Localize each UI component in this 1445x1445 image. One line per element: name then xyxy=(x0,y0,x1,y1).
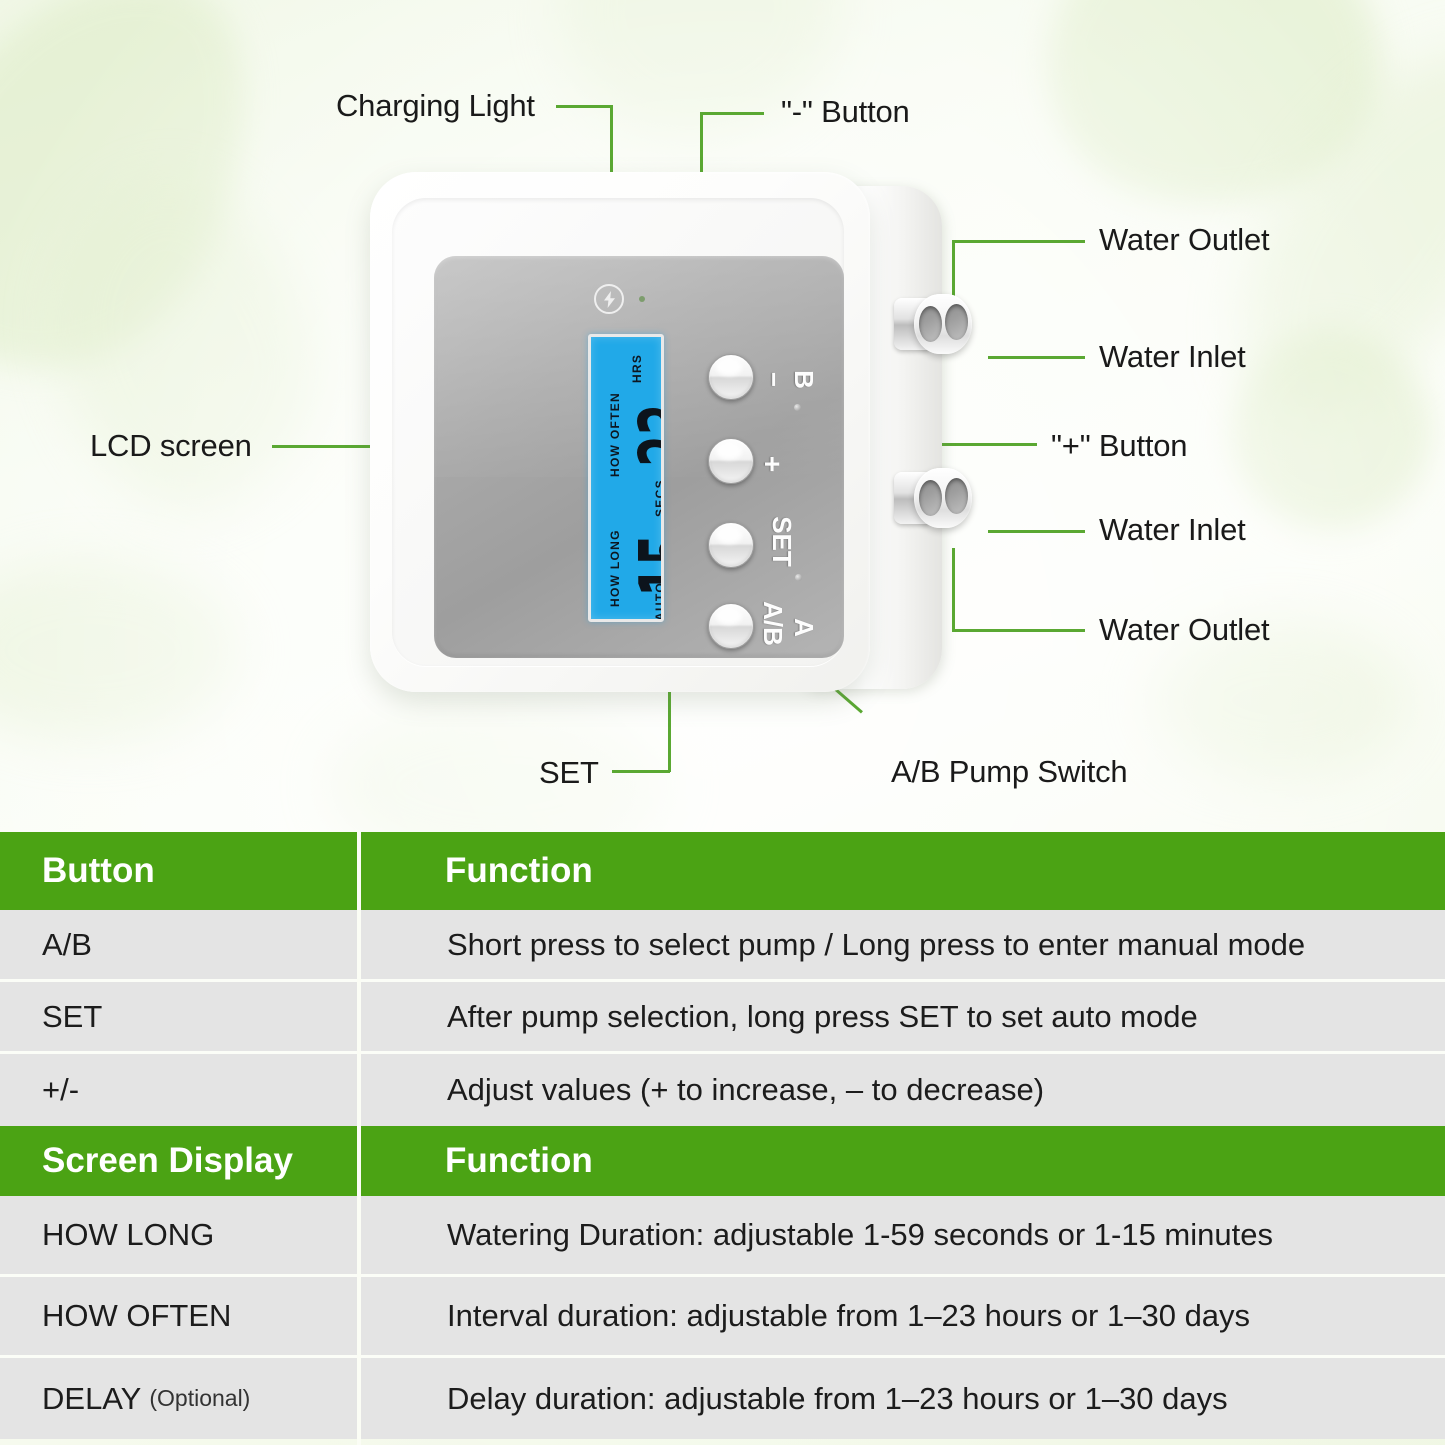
row-function-ab: Short press to select pump / Long press … xyxy=(357,910,1445,979)
minus-label: − xyxy=(758,372,789,387)
table-column-divider xyxy=(357,832,361,1445)
function-table: Button Function A/B Short press to selec… xyxy=(0,832,1445,1445)
water-inlet-hole xyxy=(945,304,968,340)
callout-water-inlet-top: Water Inlet xyxy=(1099,339,1246,375)
leader-line-minus-button xyxy=(700,112,764,115)
pump-b-led xyxy=(794,404,801,411)
row-label-delay-note: (Optional) xyxy=(149,1385,250,1412)
callout-minus-button: "-" Button xyxy=(781,94,910,130)
callout-set: SET xyxy=(539,755,599,791)
plus-button[interactable] xyxy=(708,438,754,484)
callout-water-outlet-top: Water Outlet xyxy=(1099,222,1269,258)
row-function-plus-minus: Adjust values (+ to increase, – to decre… xyxy=(357,1054,1445,1126)
row-label-set: SET xyxy=(0,982,357,1051)
row-function-set: After pump selection, long press SET to … xyxy=(357,982,1445,1051)
table-header-screen-display: Screen Display Function xyxy=(0,1126,1445,1196)
callout-charging-light: Charging Light xyxy=(336,88,535,124)
lcd-how-often-label: HOW OFTEN xyxy=(608,392,622,477)
ab-label: A/B xyxy=(757,601,788,646)
lcd-screen: HOW OFTEN HRS 23 SECS HOW LONG 15 AUTO xyxy=(588,334,664,622)
callout-water-outlet-bottom: Water Outlet xyxy=(1099,612,1269,648)
callout-plus-button: "+" Button xyxy=(1051,428,1187,464)
leader-line-water-outlet-bottom xyxy=(952,629,1085,632)
water-port-top xyxy=(894,294,970,354)
row-label-delay: DELAY (Optional) xyxy=(0,1358,357,1439)
pump-a-led xyxy=(795,574,802,581)
table-row: +/- Adjust values (+ to increase, – to d… xyxy=(0,1054,1445,1126)
water-inlet-hole xyxy=(945,478,968,514)
water-outlet-hole xyxy=(919,480,942,516)
device-faceplate: HOW OFTEN HRS 23 SECS HOW LONG 15 AUTO xyxy=(434,256,844,658)
lcd-how-long-label: HOW LONG xyxy=(608,529,622,607)
plus-label: + xyxy=(756,456,788,472)
row-function-how-long: Watering Duration: adjustable 1-59 secon… xyxy=(357,1196,1445,1274)
minus-button[interactable] xyxy=(708,354,754,400)
row-label-ab: A/B xyxy=(0,910,357,979)
charging-light-led xyxy=(639,296,645,302)
device-shell-inner: HOW OFTEN HRS 23 SECS HOW LONG 15 AUTO xyxy=(392,198,844,666)
table-row: SET After pump selection, long press SET… xyxy=(0,982,1445,1051)
header-cell-button: Button xyxy=(0,832,357,910)
irrigation-controller-device: HOW OFTEN HRS 23 SECS HOW LONG 15 AUTO xyxy=(370,172,900,702)
row-label-delay-text: DELAY xyxy=(42,1381,141,1417)
ab-pump-switch-button[interactable] xyxy=(708,603,754,649)
lightning-bolt-icon xyxy=(594,284,624,314)
port-barrel xyxy=(914,294,972,354)
water-port-bottom xyxy=(894,468,970,528)
leader-line-set xyxy=(612,770,670,773)
lcd-secs-label: SECS xyxy=(653,479,664,517)
lcd-hrs-label: HRS xyxy=(630,354,644,383)
table-row: A/B Short press to select pump / Long pr… xyxy=(0,910,1445,979)
lcd-auto-label: AUTO xyxy=(653,582,664,621)
port-barrel xyxy=(914,468,972,528)
header-cell-screen-display: Screen Display xyxy=(0,1126,357,1196)
leader-line-water-outlet-top xyxy=(952,240,1085,243)
row-function-how-often: Interval duration: adjustable from 1–23 … xyxy=(357,1277,1445,1355)
leader-line-charging-light xyxy=(556,105,612,108)
header-cell-function: Function xyxy=(357,832,1445,910)
table-row: HOW LONG Watering Duration: adjustable 1… xyxy=(0,1196,1445,1274)
lcd-how-often-value: 23 xyxy=(621,405,664,467)
callout-water-inlet-bottom: Water Inlet xyxy=(1099,512,1246,548)
pump-b-label: B xyxy=(788,370,819,389)
table-row: DELAY (Optional) Delay duration: adjusta… xyxy=(0,1358,1445,1439)
table-row: HOW OFTEN Interval duration: adjustable … xyxy=(0,1277,1445,1355)
callout-lcd-screen: LCD screen xyxy=(90,428,252,464)
row-label-how-often: HOW OFTEN xyxy=(0,1277,357,1355)
leader-line-water-inlet-bottom xyxy=(988,530,1085,533)
row-label-how-long: HOW LONG xyxy=(0,1196,357,1274)
product-diagram: Charging Light "-" Button Water Outlet W… xyxy=(0,0,1445,830)
pump-a-label: A xyxy=(788,618,819,637)
table-header-button: Button Function xyxy=(0,832,1445,910)
row-label-plus-minus: +/- xyxy=(0,1054,357,1126)
callout-ab-pump-switch: A/B Pump Switch xyxy=(891,754,1127,790)
leader-line-water-outlet-bottom xyxy=(952,548,955,631)
leader-line-water-inlet-top xyxy=(988,356,1085,359)
header-cell-function-2: Function xyxy=(357,1126,1445,1196)
device-front-shell: HOW OFTEN HRS 23 SECS HOW LONG 15 AUTO xyxy=(370,172,870,692)
row-function-delay: Delay duration: adjustable from 1–23 hou… xyxy=(357,1358,1445,1439)
set-label: SET xyxy=(766,516,797,567)
water-outlet-hole xyxy=(919,306,942,342)
set-button[interactable] xyxy=(708,522,754,568)
